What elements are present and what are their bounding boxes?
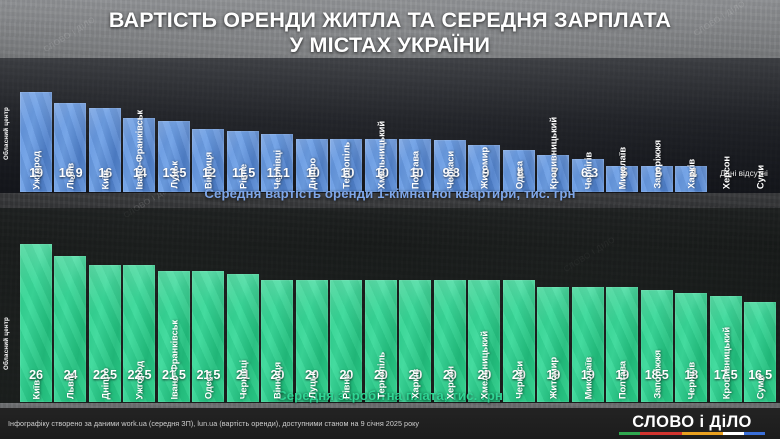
bar-value-label: 18,5 <box>645 368 669 382</box>
value-cell: 18 <box>675 366 707 384</box>
brand-logo-color-strip <box>619 432 765 435</box>
value-cell: 8 <box>504 164 536 182</box>
logo-strip-segment <box>619 432 640 435</box>
value-cell: 12 <box>193 164 225 182</box>
bar-value-label: 20 <box>340 368 354 382</box>
value-cell: 20 <box>296 366 328 384</box>
value-cell: 22,5 <box>89 366 121 384</box>
value-cell: 20 <box>399 366 431 384</box>
rent-subtitle: Середня вартість оренди 1-кімнатної квар… <box>0 186 780 201</box>
bar-value-label: 10 <box>341 166 355 180</box>
bar <box>537 287 569 402</box>
bar <box>675 293 707 402</box>
bar-value-label: 20 <box>443 368 457 382</box>
bar-value-label: 10 <box>375 166 389 180</box>
value-cell: 19 <box>20 164 52 182</box>
value-cell: 18,5 <box>641 366 673 384</box>
bar-value-label: 5 <box>621 166 628 180</box>
bar-value-label: 11,1 <box>267 166 290 180</box>
bar-value-label: 9,8 <box>443 166 460 180</box>
value-cell: Дані відсутні <box>712 163 776 182</box>
value-cell: 19 <box>606 366 638 384</box>
bar-value-label: 20 <box>271 368 285 382</box>
bar-value-label: 12 <box>202 166 216 180</box>
bar-value-label: 20 <box>374 368 388 382</box>
bar-value-label: 19 <box>546 368 560 382</box>
bar-value-label: 16,9 <box>59 166 83 180</box>
bar-value-label: 19 <box>29 166 43 180</box>
bar <box>606 287 638 402</box>
bar-value-label: 6,3 <box>581 166 598 180</box>
page-title-line-2: У МІСТАХ УКРАЇНИ <box>0 33 780 58</box>
bar-value-label: 19 <box>615 368 629 382</box>
value-cell: 11,1 <box>262 164 294 182</box>
bar-value-label: 17,5 <box>714 368 738 382</box>
value-cell: 16,9 <box>55 164 87 182</box>
logo-strip-segment <box>640 432 661 435</box>
value-cell: 19 <box>537 366 569 384</box>
bar-value-label: 18 <box>684 368 698 382</box>
bar-value-label: 11,5 <box>232 166 255 180</box>
logo-strip-segment <box>702 432 723 435</box>
bar-value-label: 5 <box>655 166 662 180</box>
value-cell: 11,5 <box>228 164 260 182</box>
bar <box>572 287 604 402</box>
bar-value-label: 22,5 <box>128 368 152 382</box>
value-cell: 20 <box>503 366 535 384</box>
value-cell: 21,5 <box>192 366 224 384</box>
footer: Інфографіку створено за даними work.ua (… <box>0 408 780 439</box>
rent-axis-label: Обласний центр <box>3 107 10 160</box>
logo-strip-segment <box>744 432 765 435</box>
value-cell: 16,5 <box>744 366 776 384</box>
value-cell: 20 <box>330 366 362 384</box>
value-cell: 13,5 <box>158 164 190 182</box>
bar-value-label: 19 <box>581 368 595 382</box>
bar-value-label: 10 <box>306 166 320 180</box>
bar-value-label: 20 <box>408 368 422 382</box>
no-data-label: Дані відсутні <box>720 169 768 178</box>
bar <box>192 129 224 192</box>
value-cell: 10 <box>366 164 398 182</box>
bar <box>744 302 776 402</box>
value-cell: 10 <box>297 164 329 182</box>
bar-value-label: 16,5 <box>748 368 772 382</box>
logo-strip-segment <box>661 432 682 435</box>
bar-value-label: 10 <box>410 166 424 180</box>
bar-value-label: 9 <box>482 166 489 180</box>
bar-value-label: 4 <box>690 166 697 180</box>
brand-logo[interactable]: СЛОВО і ДіЛО <box>616 413 768 435</box>
page-title: ВАРТІСТЬ ОРЕНДИ ЖИТЛА ТА СЕРЕДНЯ ЗАРПЛАТ… <box>0 8 780 58</box>
page-title-line-1: ВАРТІСТЬ ОРЕНДИ ЖИТЛА ТА СЕРЕДНЯ ЗАРПЛАТ… <box>0 8 780 33</box>
rent-values-row: 1916,9161413,51211,511,1101010109,89876,… <box>20 163 776 182</box>
bar-value-label: 21 <box>236 368 250 382</box>
bar-value-label: 21,5 <box>197 368 221 382</box>
bar-value-label: 20 <box>477 368 491 382</box>
bar-value-label: 26 <box>29 368 43 382</box>
wage-values-row: 262422,522,521,521,521202020202020202019… <box>20 366 776 384</box>
bar-value-label: 22,5 <box>93 368 117 382</box>
value-cell: 24 <box>54 366 86 384</box>
bar-value-label: 24 <box>64 368 78 382</box>
bar-value-label: 21,5 <box>162 368 186 382</box>
value-cell: 5 <box>608 164 640 182</box>
bar-value-label: 7 <box>552 166 559 180</box>
bar <box>641 290 673 402</box>
value-cell: 4 <box>677 164 709 182</box>
value-cell: 6,3 <box>574 164 606 182</box>
logo-strip-segment <box>723 432 744 435</box>
value-cell: 9 <box>470 164 502 182</box>
value-cell: 21 <box>227 366 259 384</box>
value-cell: 9,8 <box>435 164 467 182</box>
value-cell: 22,5 <box>123 366 155 384</box>
value-cell: 20 <box>365 366 397 384</box>
value-cell: 14 <box>124 164 156 182</box>
wage-subtitle: Середня заробітна плата, тис. грн <box>0 388 780 403</box>
value-cell: 21,5 <box>158 366 190 384</box>
brand-logo-text: СЛОВО і ДіЛО <box>616 413 768 431</box>
bar <box>227 131 259 192</box>
wage-axis-label: Обласний центр <box>3 317 10 370</box>
value-cell: 5 <box>643 164 675 182</box>
value-cell: 16 <box>89 164 121 182</box>
footer-source-note: Інфографіку створено за даними work.ua (… <box>8 419 419 428</box>
bar-value-label: 14 <box>133 166 147 180</box>
bar-value-label: 13,5 <box>163 166 187 180</box>
bar <box>710 296 742 402</box>
value-cell: 20 <box>468 366 500 384</box>
infographic-poster: СЛОВО І ДІЛО СЛОВО І ДІЛО СЛОВО І ДІЛО С… <box>0 0 780 439</box>
value-cell: 10 <box>401 164 433 182</box>
value-cell: 20 <box>261 366 293 384</box>
logo-strip-segment <box>682 432 703 435</box>
bar-value-label: 8 <box>517 166 524 180</box>
value-cell: 20 <box>434 366 466 384</box>
bar-value-label: 20 <box>305 368 319 382</box>
bar-value-label: 16 <box>98 166 112 180</box>
value-cell: 19 <box>572 366 604 384</box>
value-cell: 7 <box>539 164 571 182</box>
bar-value-label: 20 <box>512 368 526 382</box>
value-cell: 26 <box>20 366 52 384</box>
value-cell: 10 <box>331 164 363 182</box>
value-cell: 17,5 <box>710 366 742 384</box>
